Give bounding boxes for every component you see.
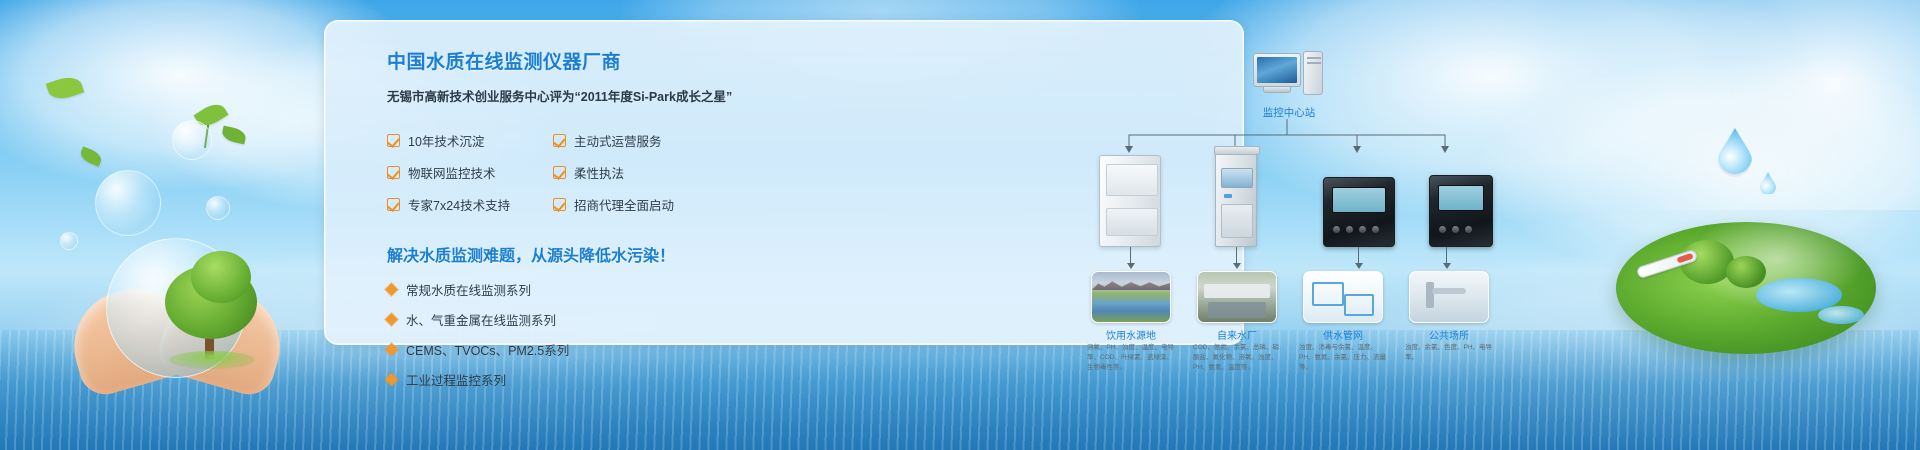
control-button[interactable]	[1464, 225, 1473, 234]
cabinet-lower-door	[1221, 204, 1253, 238]
tree-foliage	[1726, 256, 1766, 288]
list-item-label: 常规水质在线监测系列	[406, 280, 531, 299]
monitor-icon	[1253, 53, 1301, 87]
device-analyzer-cabinet	[1215, 151, 1257, 247]
lcd-screen	[1332, 187, 1386, 213]
list-item-label: CEMS、TVOCs、PM2.5系列	[406, 340, 569, 359]
checklist-item-label: 主动式运营服务	[574, 131, 662, 150]
check-icon	[553, 198, 566, 211]
arrow-down-icon	[1358, 247, 1359, 263]
bubble-icon	[172, 120, 212, 160]
status-led	[1224, 194, 1232, 198]
control-button[interactable]	[1438, 225, 1447, 234]
water-globe	[106, 238, 246, 378]
arrow-down-icon	[1446, 247, 1447, 263]
checklist-item-label: 物联网监控技术	[408, 163, 496, 182]
bubble-icon	[95, 170, 161, 236]
content-panel: 中国水质在线监测仪器厂商 无锡市高新技术创业服务中心评为“2011年度Si-Pa…	[324, 20, 1244, 345]
down-arrow-group	[1077, 247, 1497, 273]
hands-holding-tree-illustration	[72, 236, 282, 386]
checklist-item[interactable]: 主动式运营服务	[553, 131, 727, 150]
arrow-down-icon	[1236, 247, 1237, 263]
control-button[interactable]	[1451, 225, 1460, 234]
scenario-description: 溶氧、PH、浊度、温度、电导率、COD、叶绿素、蓝绿藻、生物毒性等。	[1087, 343, 1175, 373]
diamond-bullet-icon	[385, 373, 398, 386]
list-item-label: 工业过程监控系列	[406, 370, 506, 389]
green-earth-illustration	[1616, 222, 1876, 354]
list-item[interactable]: 工业过程监控系列	[387, 370, 727, 389]
page-title: 中国水质在线监测仪器厂商	[387, 47, 727, 74]
check-icon	[553, 134, 566, 147]
tree-foliage	[191, 251, 251, 303]
scenario-description: 浊度、余氯、色度、PH、电导率。	[1405, 343, 1493, 363]
section-headline: 解决水质监测难题，从源头降低水污染！	[387, 242, 727, 266]
diamond-bullet-icon	[385, 313, 398, 326]
lcd-screen	[1438, 185, 1484, 211]
checklist-item[interactable]: 物联网监控技术	[387, 163, 547, 182]
checklist-item[interactable]: 招商代理全面启动	[553, 195, 727, 214]
checklist-item[interactable]: 柔性执法	[553, 163, 727, 182]
button-row	[1438, 220, 1484, 238]
scenario-photo-group: 饮用水源地 溶氧、PH、浊度、温度、电导率、COD、叶绿素、蓝绿藻、生物毒性等。…	[1077, 271, 1497, 381]
grass-patch	[169, 351, 255, 369]
control-button[interactable]	[1345, 225, 1354, 234]
pc-tower-icon	[1303, 51, 1323, 95]
photo-water-plant	[1197, 271, 1277, 323]
check-icon	[387, 198, 400, 211]
button-row	[1332, 220, 1386, 238]
check-icon	[387, 166, 400, 179]
cabinet-top	[1214, 146, 1260, 155]
diamond-bullet-icon	[385, 343, 398, 356]
scenario-title: 供水管网	[1303, 327, 1383, 342]
photo-drinking-water-source	[1091, 271, 1171, 323]
check-icon	[553, 166, 566, 179]
scenario-title: 公共场所	[1409, 327, 1489, 342]
checklist-item[interactable]: 10年技术沉淀	[387, 131, 547, 150]
center-node-label: 监控中心站	[1229, 105, 1349, 120]
scenario-title: 自来水厂	[1197, 327, 1277, 342]
checklist-item-label: 招商代理全面启动	[574, 195, 674, 214]
control-button[interactable]	[1371, 225, 1380, 234]
device-controller-narrow	[1429, 175, 1493, 247]
checklist-item-label: 柔性执法	[574, 163, 624, 182]
scenario-description: 浊度、消毒与余氯、温度、PH、氨氮、余氯、压力、流量等。	[1299, 343, 1387, 373]
panel-text-column: 中国水质在线监测仪器厂商 无锡市高新技术创业服务中心评为“2011年度Si-Pa…	[387, 47, 727, 389]
monitor-stand	[1263, 87, 1291, 93]
list-item[interactable]: 常规水质在线监测系列	[387, 280, 727, 299]
sea-sparkle	[0, 330, 1920, 450]
arrow-down-icon	[1130, 247, 1131, 263]
feature-checklist: 10年技术沉淀 主动式运营服务 物联网监控技术 柔性执法 专家7x24技术支持 …	[387, 131, 727, 214]
monitoring-center-computer-icon	[1253, 53, 1323, 99]
device-row	[1077, 151, 1497, 247]
check-icon	[387, 134, 400, 147]
scenario-description: COD、氨氮、余氯、总磷、硝酸盐、氟化物、溶氧、浊度、PH、氨氮、温度等。	[1193, 343, 1281, 373]
diamond-bullet-icon	[385, 283, 398, 296]
device-controller-wide	[1323, 177, 1395, 247]
product-series-list: 常规水质在线监测系列 水、气重金属在线监测系列 CEMS、TVOCs、PM2.5…	[387, 280, 727, 389]
scenario-title: 饮用水源地	[1091, 327, 1171, 342]
list-item-label: 水、气重金属在线监测系列	[406, 310, 556, 329]
list-item[interactable]: 水、气重金属在线监测系列	[387, 310, 727, 329]
photo-public-place	[1409, 271, 1489, 323]
lake-shape	[1818, 306, 1864, 324]
bubble-icon	[206, 196, 230, 220]
checklist-item-label: 10年技术沉淀	[408, 131, 484, 150]
monitor-screen	[1257, 57, 1297, 83]
control-button[interactable]	[1358, 225, 1367, 234]
page-subtitle: 无锡市高新技术创业服务中心评为“2011年度Si-Park成长之星”	[387, 86, 727, 105]
control-button[interactable]	[1332, 225, 1341, 234]
checklist-item[interactable]: 专家7x24技术支持	[387, 195, 547, 214]
cabinet-window	[1221, 168, 1253, 188]
list-item[interactable]: CEMS、TVOCs、PM2.5系列	[387, 340, 727, 359]
system-topology-diagram: 监控中心站	[1077, 43, 1497, 343]
device-water-cabinet	[1099, 155, 1161, 247]
checklist-item-label: 专家7x24技术支持	[408, 195, 510, 214]
photo-supply-network	[1303, 271, 1383, 323]
